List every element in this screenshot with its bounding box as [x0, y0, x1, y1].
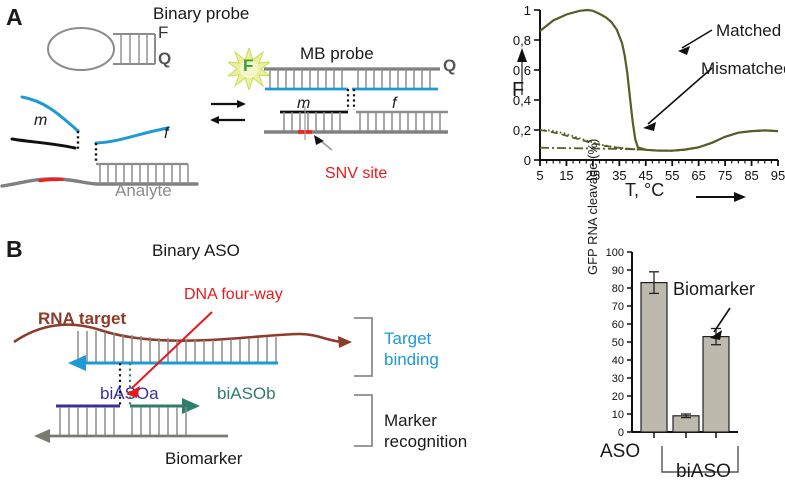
melt-series-mismatched-dashdot	[540, 130, 778, 150]
panel-b-title: Binary ASO	[152, 242, 240, 259]
bar-2	[703, 337, 729, 432]
hairpin-quencher-label: Q	[158, 50, 171, 67]
melt-ytick-label: 0,2	[513, 123, 531, 138]
bar-chart-ylabel: GFP RNA cleavage (%)	[586, 125, 599, 275]
melt-xtick-label: 5	[536, 168, 543, 183]
melt-ytick-label: 0,8	[513, 33, 531, 48]
mb-probe-title: MB probe	[300, 45, 374, 62]
bar-group-label-biaso: biASO	[676, 462, 731, 481]
bar-ytick-label: 80	[612, 283, 624, 295]
snv-site-label: SNV site	[325, 166, 387, 182]
mb-quencher-label: Q	[443, 57, 456, 74]
analyte-complex-diagram	[0, 85, 215, 195]
mb-fluorophore-label: F	[243, 57, 253, 74]
panel-label-a: A	[6, 6, 23, 29]
bar-group-label-aso: ASO	[600, 442, 640, 461]
melting-curve-xlabel: T, °C	[625, 181, 664, 199]
panel-label-b: B	[6, 238, 23, 261]
bar-ytick-label: 50	[612, 337, 624, 349]
melt-ytick-label: 1	[524, 3, 531, 18]
bar-ytick-label: 20	[612, 391, 624, 403]
bar-ytick-label: 40	[612, 355, 624, 367]
bar-ytick-label: 100	[606, 247, 624, 259]
panel-a-title: Binary probe	[153, 5, 249, 22]
binary-aso-diagram	[0, 300, 390, 460]
melt-xtick-label: 85	[744, 168, 758, 183]
bar-ytick-label: 10	[612, 409, 624, 421]
target-binding-label-line1: Target	[384, 330, 431, 347]
strand-m-label-left: m	[34, 113, 47, 129]
bar-ytick-label: 90	[612, 265, 624, 277]
annotation-matched: Matched	[716, 22, 781, 39]
mb-probe-diagram	[262, 62, 452, 162]
bar-ytick-label: 60	[612, 319, 624, 331]
melt-xtick-label: 55	[665, 168, 679, 183]
melt-ytick-label: 0	[524, 153, 531, 168]
melting-curve-ylabel: F	[512, 80, 524, 100]
bar-ytick-label: 0	[618, 427, 624, 439]
bar-ytick-label: 70	[612, 301, 624, 313]
target-binding-label-line2: binding	[384, 351, 439, 368]
melt-xtick-label: 75	[718, 168, 732, 183]
marker-recognition-label-line1: Marker	[384, 412, 437, 429]
strand-f-label-mb: f	[392, 96, 396, 112]
strand-m-label-mb: m	[297, 96, 310, 112]
melt-xtick-label: 15	[559, 168, 573, 183]
melt-xtick-label: 65	[691, 168, 705, 183]
marker-recognition-label-line2: recognition	[384, 433, 467, 450]
melt-xtick-label: 95	[771, 168, 785, 183]
analyte-label: Analyte	[115, 182, 172, 199]
strand-f-label-left: f	[164, 126, 168, 142]
bar-0	[641, 283, 667, 432]
bar-ytick-label: 30	[612, 373, 624, 385]
annotation-biomarker: Biomarker	[673, 280, 755, 298]
equilibrium-arrows-icon	[206, 93, 250, 133]
hairpin-fluorophore-label: F	[158, 24, 168, 41]
annotation-mismatched: Mismatched	[701, 60, 785, 77]
hairpin-probe-diagram	[45, 22, 170, 82]
